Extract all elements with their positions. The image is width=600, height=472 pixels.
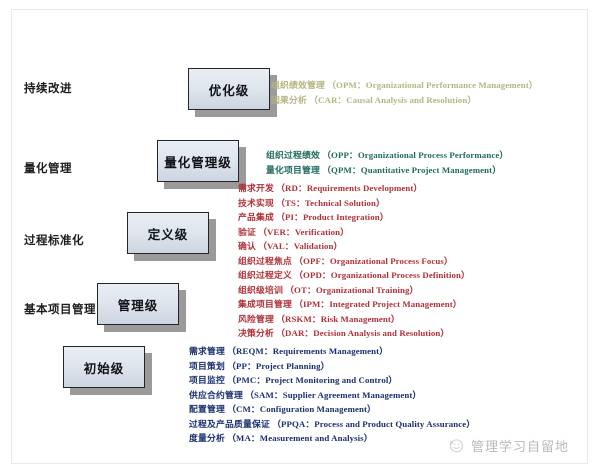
process-area-name-en: （IPM：Integrated Project Management）	[294, 299, 462, 309]
process-area-group-defined: 需求开发 （RD：Requirements Development）技术实现 （…	[238, 181, 470, 341]
process-area-name-en: （TS：Technical Solution）	[276, 198, 385, 208]
process-area-name-cn: 项目监控	[189, 375, 225, 385]
process-area-line: 项目策划 （PP：Project Planning）	[189, 359, 475, 374]
process-area-name-cn: 需求管理	[189, 346, 225, 356]
process-area-name-cn: 确认	[238, 241, 256, 251]
diagram-canvas: 持续改进量化管理过程标准化基本项目管理 优化级量化管理级定义级管理级初始级 组织…	[0, 0, 600, 472]
process-area-line: 配置管理 （CM：Configuration Management）	[189, 402, 475, 417]
process-area-name-cn: 量化项目管理	[266, 165, 320, 175]
process-area-name-en: （CAR：Causal Analysis and Resolution）	[309, 95, 476, 105]
process-area-name-cn: 项目策划	[189, 361, 225, 371]
process-area-line: 组织过程绩效 （OPP：Organizational Process Perfo…	[266, 148, 508, 163]
process-area-group-managed: 需求管理 （REQM：Requirements Management）项目策划 …	[189, 344, 475, 446]
process-area-name-en: （PMC：Project Monitoring and Control）	[227, 375, 397, 385]
process-area-name-cn: 供应合约管理	[189, 390, 243, 400]
process-area-group-quantitative: 组织过程绩效 （OPP：Organizational Process Perfo…	[266, 148, 508, 177]
process-area-line: 组织过程定义 （OPD：Organizational Process Defin…	[238, 268, 470, 283]
process-area-name-cn: 组织过程焦点	[238, 256, 292, 266]
process-area-name-cn: 度量分析	[189, 433, 225, 443]
process-area-name-en: （OPP：Organizational Process Performance）	[322, 150, 508, 160]
process-area-name-en: （PP：Project Planning）	[227, 361, 329, 371]
process-area-line: 需求开发 （RD：Requirements Development）	[238, 181, 470, 196]
maturity-level-label: 定义级	[148, 224, 189, 243]
process-area-name-cn: 组织级培训	[238, 285, 283, 295]
maturity-level-box: 量化管理级	[157, 140, 239, 182]
process-area-line: 决策分析 （DAR：Decision Analysis and Resoluti…	[238, 326, 470, 341]
box-face: 定义级	[127, 212, 209, 254]
process-area-name-cn: 组织绩效管理	[271, 80, 325, 90]
process-area-line: 产品集成 （PI：Product Integration）	[238, 210, 470, 225]
process-area-name-en: （REQM：Requirements Management）	[227, 346, 388, 356]
stage-label: 过程标准化	[24, 232, 84, 248]
process-area-name-en: （SAM：Supplier Agreement Management）	[245, 390, 421, 400]
process-area-name-cn: 需求开发	[238, 183, 274, 193]
stage-label: 量化管理	[24, 160, 72, 176]
process-area-line: 组织过程焦点 （OPF：Organizational Process Focus…	[238, 254, 470, 269]
smiley-circle-icon	[448, 437, 465, 454]
process-area-line: 过程及产品质量保证 （PPQA：Process and Product Qual…	[189, 417, 475, 432]
process-area-line: 量化项目管理 （QPM：Quantitative Project Managem…	[266, 163, 508, 178]
maturity-level-label: 初始级	[84, 358, 125, 377]
process-area-name-cn: 决策分析	[238, 328, 274, 338]
process-area-name-en: （VAL：Validation）	[258, 241, 342, 251]
process-area-name-en: （OT：Organizational Training）	[285, 285, 418, 295]
maturity-level-box: 优化级	[188, 68, 270, 110]
maturity-level-label: 管理级	[118, 295, 159, 314]
process-area-line: 需求管理 （REQM：Requirements Management）	[189, 344, 475, 359]
maturity-level-box: 管理级	[97, 283, 179, 325]
box-face: 初始级	[63, 346, 145, 388]
process-area-name-cn: 组织过程绩效	[266, 150, 320, 160]
process-area-name-en: （RSKM：Risk Management）	[276, 314, 400, 324]
process-area-name-cn: 技术实现	[238, 198, 274, 208]
process-area-name-en: （MA：Measurement and Analysis）	[227, 433, 372, 443]
process-area-name-en: （OPM：Organizational Performance Manageme…	[327, 80, 538, 90]
process-area-name-cn: 产品集成	[238, 212, 274, 222]
maturity-level-box: 初始级	[63, 346, 145, 388]
maturity-level-label: 量化管理级	[164, 152, 232, 171]
process-area-name-en: （OPD：Organizational Process Definition）	[294, 270, 470, 280]
process-area-line: 项目监控 （PMC：Project Monitoring and Control…	[189, 373, 475, 388]
process-area-name-en: （RD：Requirements Development）	[276, 183, 422, 193]
maturity-level-box: 定义级	[127, 212, 209, 254]
watermark-text: 管理学习自留地	[471, 436, 569, 455]
process-area-line: 验证 （VER：Verification）	[238, 225, 470, 240]
box-face: 量化管理级	[157, 140, 239, 182]
process-area-name-en: （PPQA：Process and Product Quality Assura…	[272, 419, 475, 429]
process-area-line: 技术实现 （TS：Technical Solution）	[238, 196, 470, 211]
process-area-name-cn: 验证	[238, 227, 256, 237]
stage-label: 基本项目管理	[24, 301, 96, 317]
process-area-name-en: （QPM：Quantitative Project Management）	[322, 165, 501, 175]
process-area-line: 风险管理 （RSKM：Risk Management）	[238, 312, 470, 327]
process-area-line: 组织绩效管理 （OPM：Organizational Performance M…	[271, 78, 538, 93]
watermark: 管理学习自留地	[448, 436, 569, 455]
stage-label: 持续改进	[24, 80, 72, 96]
box-face: 管理级	[97, 283, 179, 325]
process-area-name-cn: 风险管理	[238, 314, 274, 324]
process-area-name-cn: 过程及产品质量保证	[189, 419, 270, 429]
process-area-name-en: （DAR：Decision Analysis and Resolution）	[276, 328, 449, 338]
process-area-line: 供应合约管理 （SAM：Supplier Agreement Managemen…	[189, 388, 475, 403]
process-area-name-en: （CM：Configuration Management）	[227, 404, 376, 414]
process-area-name-cn: 因果分析	[271, 95, 307, 105]
process-area-line: 确认 （VAL：Validation）	[238, 239, 470, 254]
process-area-line: 因果分析 （CAR：Causal Analysis and Resolution…	[271, 93, 538, 108]
process-area-name-cn: 集成项目管理	[238, 299, 292, 309]
process-area-name-cn: 组织过程定义	[238, 270, 292, 280]
process-area-name-en: （VER：Verification）	[258, 227, 349, 237]
process-area-name-cn: 配置管理	[189, 404, 225, 414]
process-area-name-en: （PI：Product Integration）	[276, 212, 388, 222]
maturity-level-label: 优化级	[209, 80, 250, 99]
box-face: 优化级	[188, 68, 270, 110]
process-area-line: 度量分析 （MA：Measurement and Analysis）	[189, 431, 475, 446]
process-area-group-optimizing: 组织绩效管理 （OPM：Organizational Performance M…	[271, 78, 538, 107]
process-area-name-en: （OPF：Organizational Process Focus）	[294, 256, 453, 266]
process-area-line: 集成项目管理 （IPM：Integrated Project Managemen…	[238, 297, 470, 312]
process-area-line: 组织级培训 （OT：Organizational Training）	[238, 283, 470, 298]
